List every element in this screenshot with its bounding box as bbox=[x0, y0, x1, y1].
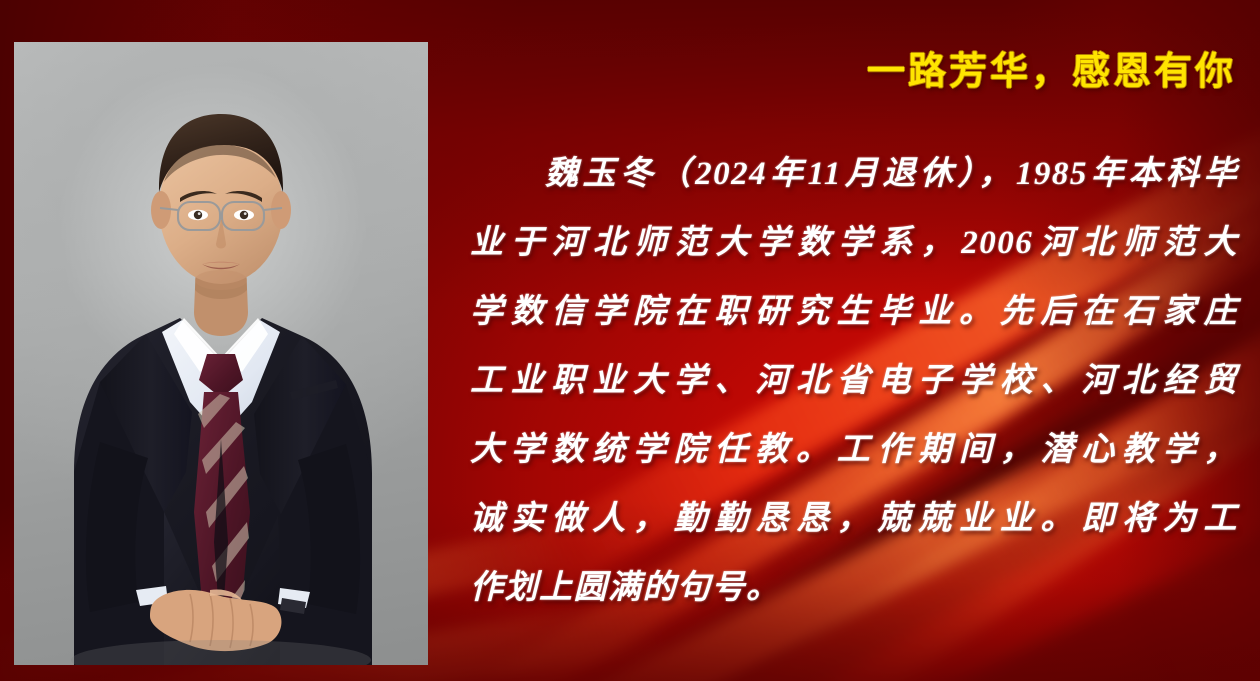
biography-line: 业于河北师范大学数学系，2006河北师范大 bbox=[470, 209, 1238, 278]
biography-line: 诚实做人，勤勤恳恳，兢兢业业。即将为工 bbox=[470, 485, 1238, 554]
biography-line: 大学数统学院任教。工作期间，潜心教学， bbox=[470, 416, 1238, 485]
iris-left bbox=[194, 211, 202, 219]
portrait-figure bbox=[14, 42, 428, 665]
portrait-photo bbox=[14, 42, 428, 665]
ear-left bbox=[151, 191, 171, 229]
ear-right bbox=[271, 191, 291, 229]
biography-line: 魏玉冬（2024年11月退休），1985年本科毕 bbox=[470, 140, 1238, 209]
biography-line: 工业职业大学、河北省电子学校、河北经贸 bbox=[470, 347, 1238, 416]
biography-paragraph: 魏玉冬（2024年11月退休），1985年本科毕 业于河北师范大学数学系，200… bbox=[470, 140, 1238, 623]
eye-glint-right bbox=[244, 212, 247, 215]
chin-shadow bbox=[195, 270, 247, 290]
biography-line: 学数信学院在职研究生毕业。先后在石家庄 bbox=[470, 278, 1238, 347]
iris-right bbox=[240, 211, 248, 219]
biography-line: 作划上圆满的句号。 bbox=[470, 554, 1238, 623]
eye-glint-left bbox=[198, 212, 201, 215]
slide-title: 一路芳华，感恩有你 bbox=[640, 48, 1236, 96]
retirement-tribute-slide: 一路芳华，感恩有你 魏玉冬（2024年11月退休），1985年本科毕 业于河北师… bbox=[0, 0, 1260, 681]
